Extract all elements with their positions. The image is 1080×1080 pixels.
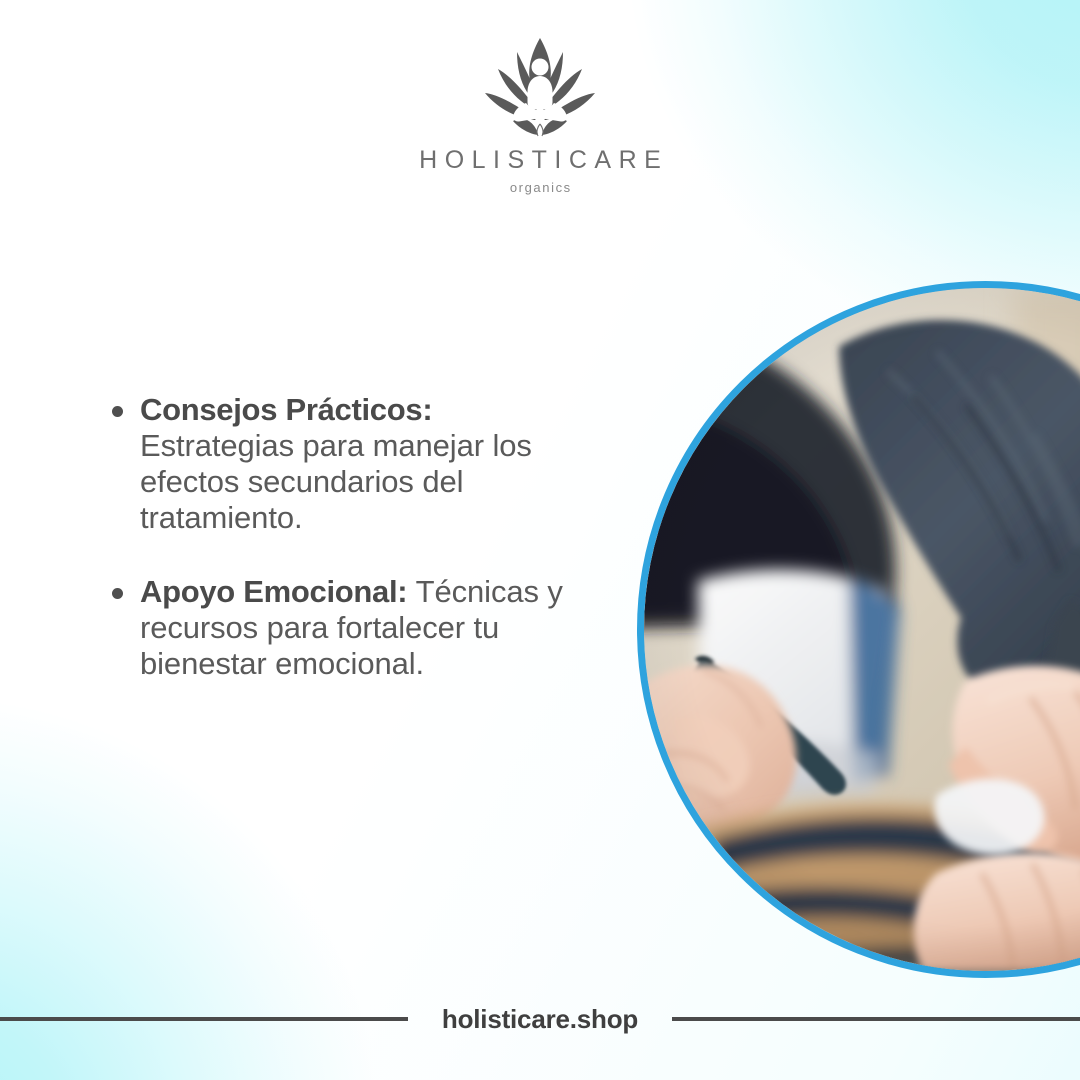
- feature-photo: [644, 288, 1080, 971]
- footer-rule-left: [0, 1017, 408, 1021]
- bullet-title: Consejos Prácticos:: [140, 392, 432, 427]
- post-canvas: HOLISTICARE organics: [0, 0, 1080, 1080]
- footer: holisticare.shop: [0, 1002, 1080, 1036]
- therapist-holding-patient-hands-photo: [644, 288, 1080, 971]
- list-item: Consejos Prácticos: Estrategias para man…: [112, 392, 582, 536]
- bullet-dot-icon: [112, 588, 123, 599]
- bullet-text: Consejos Prácticos: Estrategias para man…: [140, 392, 582, 536]
- feature-photo-circle: [637, 281, 1080, 978]
- logo-wordmark: HOLISTICARE: [412, 146, 669, 175]
- bullet-dot-icon: [112, 406, 123, 417]
- bullet-title: Apoyo Emocional:: [140, 574, 416, 609]
- brand-logo: HOLISTICARE organics: [0, 36, 1080, 195]
- bullet-list: Consejos Prácticos: Estrategias para man…: [112, 392, 582, 682]
- website-label[interactable]: holisticare.shop: [442, 1004, 638, 1035]
- footer-rule-right: [672, 1017, 1080, 1021]
- list-item: Apoyo Emocional: Técnicas y recursos par…: [112, 574, 582, 682]
- logo-tagline: organics: [508, 180, 572, 195]
- bullet-text: Apoyo Emocional: Técnicas y recursos par…: [140, 574, 582, 682]
- lotus-meditation-icon: [480, 36, 600, 140]
- bullet-body: Estrategias para manejar los efectos sec…: [140, 428, 532, 535]
